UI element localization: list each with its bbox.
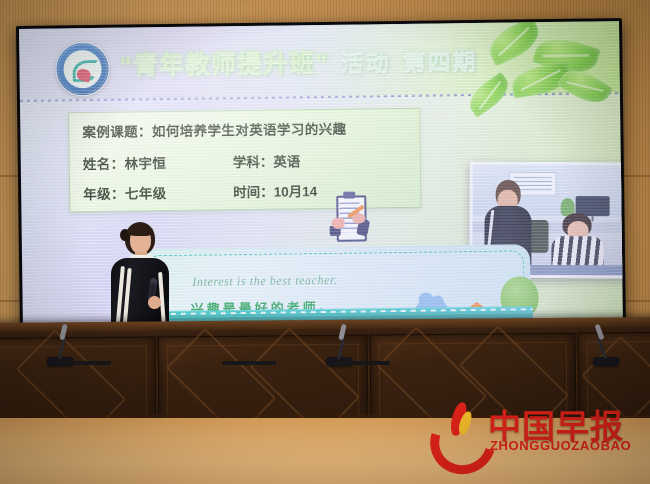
time-value: 10月14 [274,184,318,200]
quote-english: Interest is the best teacher. [192,273,337,290]
watermark: 中国早报 ZHONGGUOZAOBAO [430,400,642,462]
subject-row: 学科：英语 [233,150,301,171]
title-activity: 活动 [340,43,390,78]
screenshot-root: “青年教师提升班” 活动 第四期 案例课题：如何培养学生对英语学习的兴趣 姓名：… [0,0,650,484]
topic-value: 如何培养学生对英语学习的兴趣 [152,122,347,140]
grade-row: 年级：七年级 [83,182,167,203]
clipboard-clip [343,192,355,199]
title-quoted: “青年教师提升班” [119,43,328,82]
watermark-pinyin: ZHONGGUOZAOBAO [490,438,631,453]
name-row: 姓名：林宇恒 [83,152,167,173]
info-card: 案例课题：如何培养学生对英语学习的兴趣 姓名：林宇恒 学科：英语 年级：七年级 … [68,108,421,213]
title-session: 第四期 [402,42,477,77]
clipboard-with-pen-icon [332,191,367,243]
topic-label: 案例课题： [82,124,152,140]
presenter-hand [148,296,161,309]
subject-label: 学科： [233,155,274,171]
topic-row: 案例课题：如何培养学生对英语学习的兴趣 [82,118,346,141]
slide-title: “青年教师提升班” 活动 第四期 [119,33,590,87]
presenter-fringe [128,225,153,236]
name-label: 姓名： [83,157,125,173]
mic-table-cable [57,361,111,365]
emblem-ring [57,44,108,95]
time-row: 时间：10月14 [233,180,317,201]
subject-value: 英语 [273,154,300,169]
name-value: 林宇恒 [124,156,166,172]
grade-value: 七年级 [125,186,167,202]
hand-left [332,218,345,229]
flame-logo-icon [430,402,486,458]
mic-table-cable [336,361,390,365]
grade-label: 年级： [83,187,125,203]
time-label: 时间： [233,185,274,201]
mic-table-cable [222,361,276,365]
